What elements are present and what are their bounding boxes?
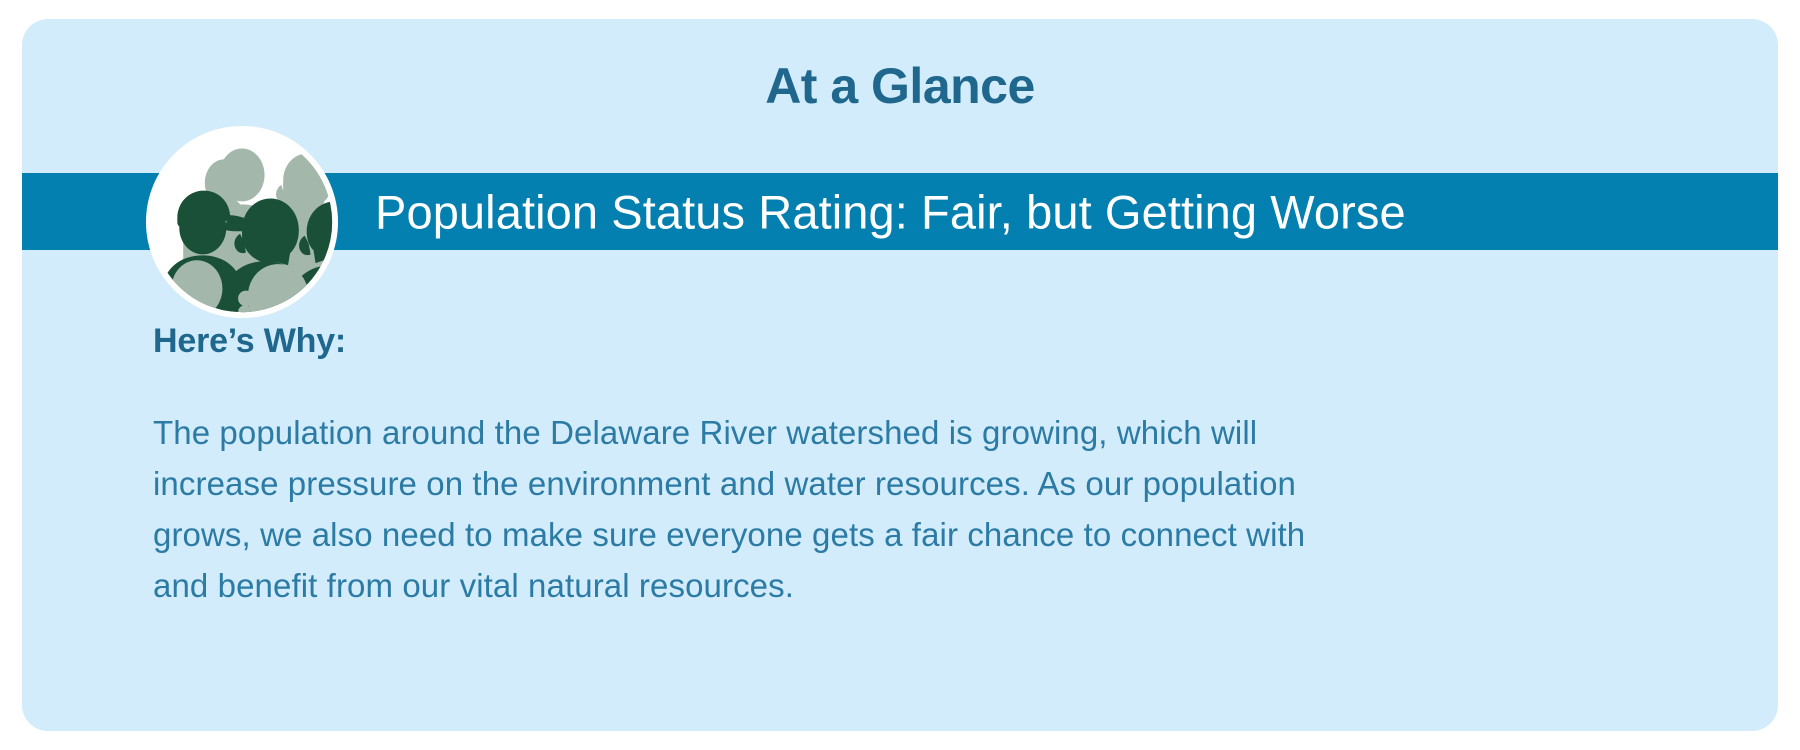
at-a-glance-card: At a Glance Population Status Rating: Fa… [22, 19, 1778, 731]
heres-why-heading: Here’s Why: [153, 324, 346, 358]
paragraph-line: and benefit from our vital natural resou… [153, 560, 1493, 611]
heres-why-paragraph: The population around the Delaware River… [153, 407, 1493, 611]
people-group-icon [144, 124, 340, 320]
paragraph-line: grows, we also need to make sure everyon… [153, 509, 1493, 560]
status-banner-label: Population Status Rating: Fair, but Gett… [375, 187, 1406, 236]
screenshot-root: At a Glance Population Status Rating: Fa… [0, 0, 1800, 750]
page-title: At a Glance [22, 61, 1778, 111]
paragraph-line: The population around the Delaware River… [153, 407, 1493, 458]
paragraph-line: increase pressure on the environment and… [153, 458, 1493, 509]
